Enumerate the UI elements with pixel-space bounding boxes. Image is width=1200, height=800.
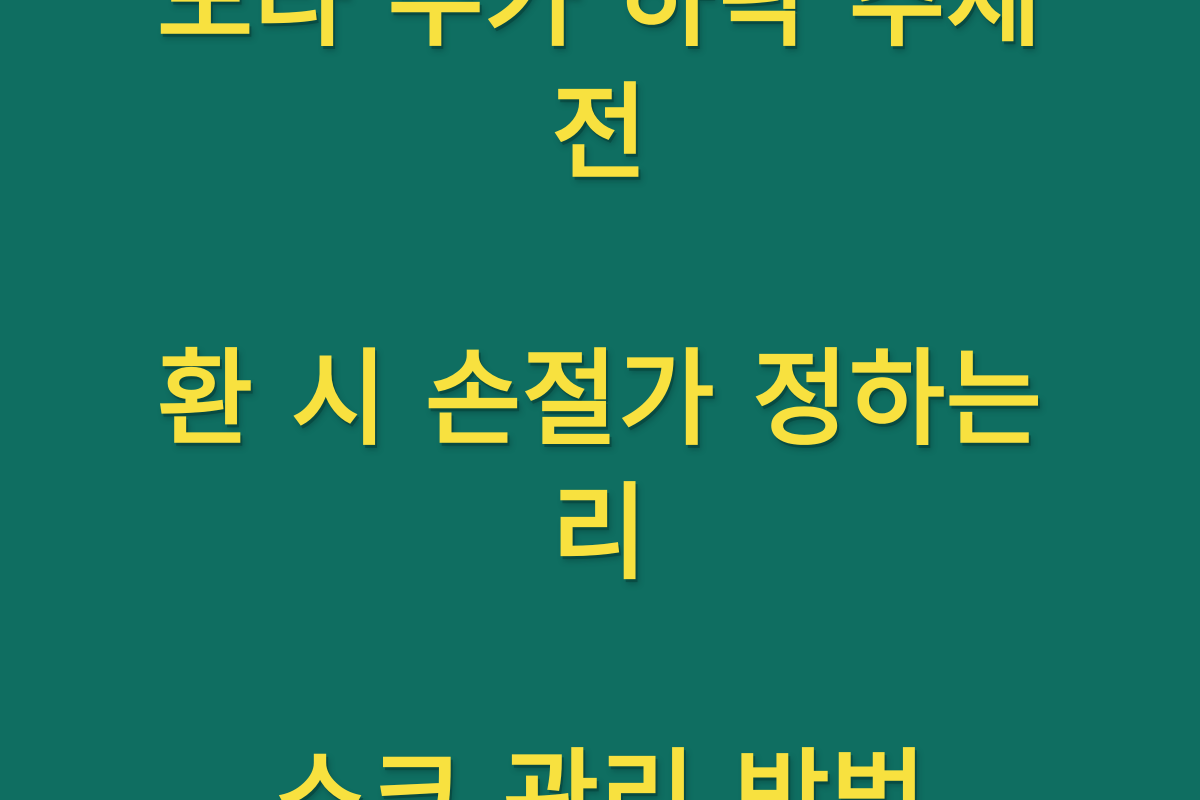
page-title: 노타 주가 하락 추세 전 환 시 손절가 정하는 리 스크 관리 방법 [120, 0, 1080, 800]
headline-line-1: 노타 주가 하락 추세 전 [120, 0, 1080, 200]
headline-block: 노타 주가 하락 추세 전 환 시 손절가 정하는 리 스크 관리 방법 [100, 0, 1100, 800]
headline-line-3: 스크 관리 방법 [120, 733, 1080, 800]
banner-card: 노타 주가 하락 추세 전 환 시 손절가 정하는 리 스크 관리 방법 [0, 0, 1200, 800]
headline-line-2: 환 시 손절가 정하는 리 [120, 333, 1080, 599]
